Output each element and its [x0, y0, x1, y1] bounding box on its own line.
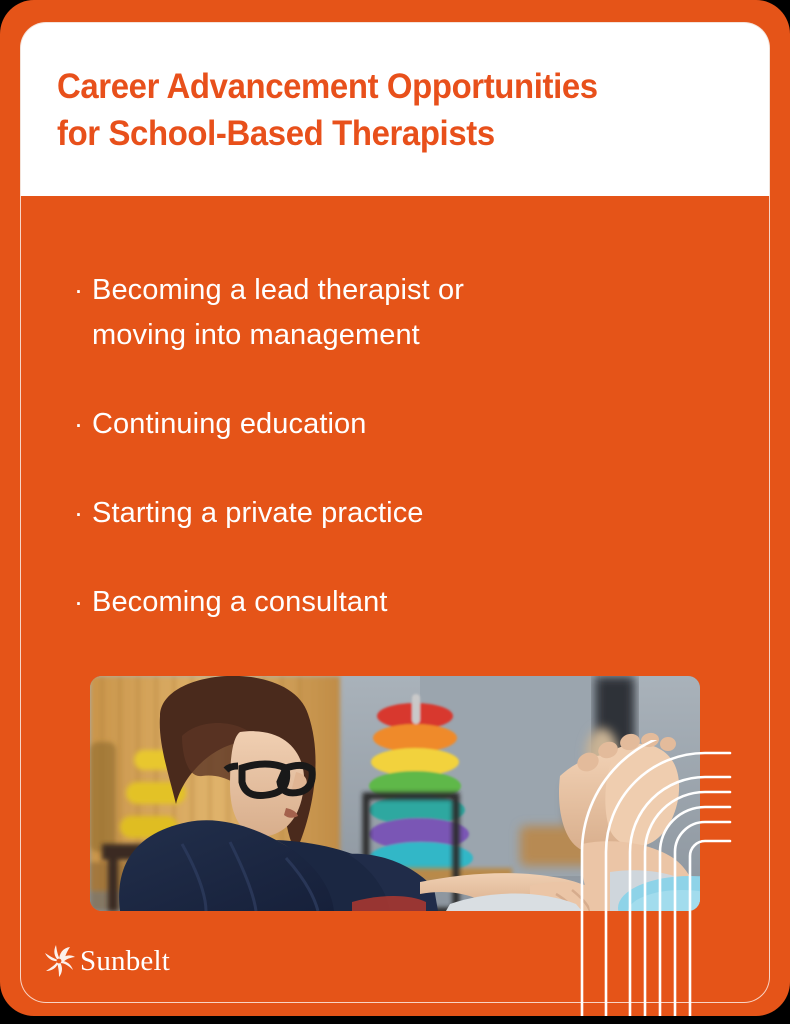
- page-title: Career Advancement Opportunities for Sch…: [57, 63, 706, 157]
- bullet-icon: ·: [74, 580, 92, 625]
- brand-logo: Sunbelt: [42, 944, 170, 978]
- list-item-label: Becoming a consultant: [92, 580, 388, 625]
- sunbelt-swirl-icon: [42, 944, 76, 978]
- opportunities-list: · Becoming a lead therapist or moving in…: [74, 268, 674, 625]
- list-item: · Starting a private practice: [74, 491, 674, 536]
- therapy-photo: [90, 676, 700, 911]
- list-item: · Continuing education: [74, 402, 674, 447]
- infographic-page: Career Advancement Opportunities for Sch…: [0, 0, 790, 1024]
- brand-wordmark: Sunbelt: [80, 944, 170, 978]
- bullet-icon: ·: [74, 268, 92, 313]
- list-item-label: Starting a private practice: [92, 491, 424, 536]
- bullet-icon: ·: [74, 402, 92, 447]
- list-item: · Becoming a lead therapist or moving in…: [74, 268, 674, 358]
- list-item: · Becoming a consultant: [74, 580, 674, 625]
- bullet-icon: ·: [74, 491, 92, 536]
- list-item-label: Continuing education: [92, 402, 366, 447]
- orange-panel: Career Advancement Opportunities for Sch…: [0, 0, 790, 1016]
- header-card: Career Advancement Opportunities for Sch…: [20, 22, 770, 196]
- list-item-label: Becoming a lead therapist or moving into…: [92, 268, 464, 358]
